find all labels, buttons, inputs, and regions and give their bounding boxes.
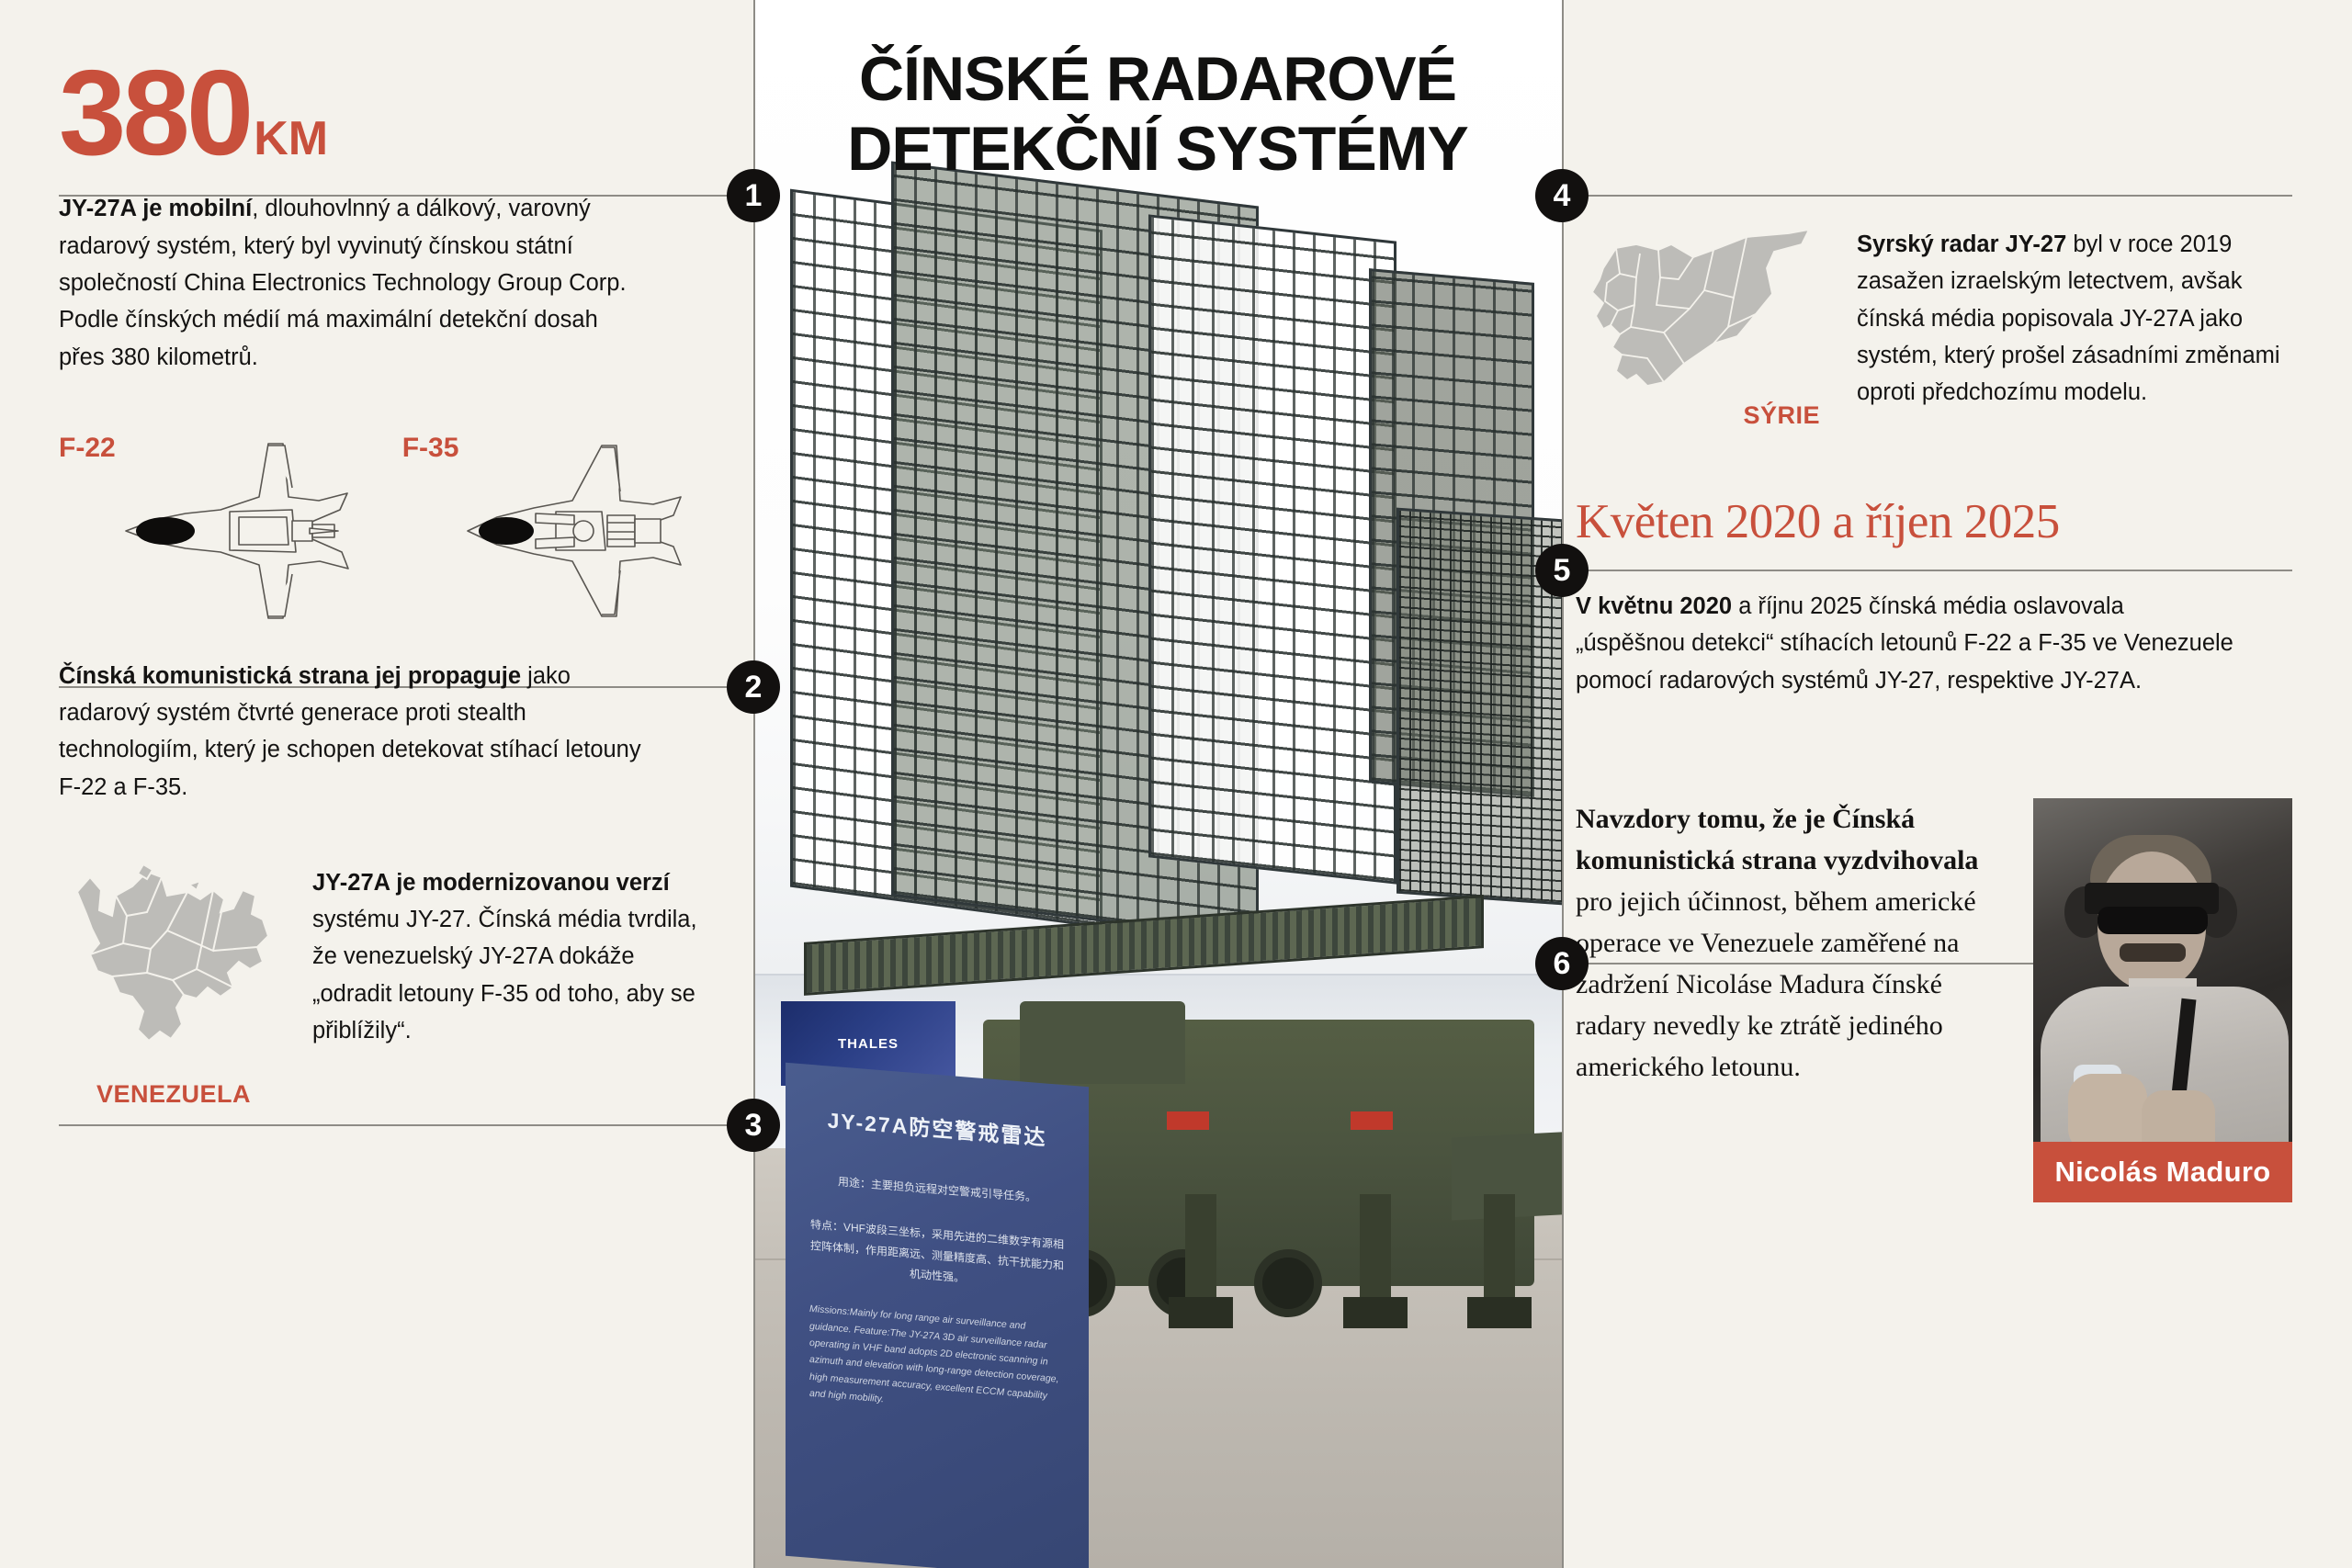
stabilizer-leg — [1185, 1194, 1216, 1304]
block-6-body: pro jejich účinnost, během americké oper… — [1576, 886, 1976, 1082]
block-5-paragraph: V květnu 2020 a říjnu 2025 čínská média … — [1576, 588, 2237, 699]
block-6-paragraph: Navzdory tomu, že je Čínská komunistická… — [1576, 798, 2007, 1088]
placard-chinese-usage: 用途：主要担负远程对空警戒引导任务。 — [809, 1169, 1065, 1211]
block-4: SÝRIE Syrský radar JY-27 byl v roce 2019… — [1576, 226, 2301, 430]
page-title: ČÍNSKÉ RADAROVÉ DETEKČNÍ SYSTÉMY — [790, 44, 1525, 184]
block-3-paragraph: JY-27A je modernizovanou verzí systému J… — [312, 864, 702, 1049]
tail-light — [1167, 1111, 1209, 1130]
stabilizer-leg — [1360, 1194, 1391, 1304]
jet-f35: F-35 — [402, 433, 685, 630]
block-3-lead: JY-27A je modernizovanou verzí — [312, 870, 670, 896]
block-4-paragraph: Syrský radar JY-27 byl v roce 2019 zasaž… — [1857, 226, 2298, 411]
block-3: VENEZUELA JY-27A je modernizovanou verzí… — [59, 859, 702, 1109]
right-column: SÝRIE Syrský radar JY-27 byl v roce 2019… — [1576, 0, 2301, 1202]
syria-map-icon — [1576, 226, 1833, 391]
step-badge-6[interactable]: 6 — [1535, 937, 1589, 990]
fighter-jet-icon — [121, 433, 351, 630]
radar-photo: THALES JY-27A防空警戒雷达 用途：主要担负远程对空警戒引导任务。 特… — [753, 0, 1562, 1568]
block-6-lead: Navzdory tomu, že je Čínská komunistická… — [1576, 804, 1978, 875]
venezuela-map-caption: VENEZUELA — [59, 1080, 288, 1109]
jet-f22: F-22 — [59, 433, 351, 630]
step-badge-2[interactable]: 2 — [727, 660, 780, 714]
stat-value: 380 — [59, 45, 250, 180]
fighter-jet-icon — [464, 433, 684, 630]
block-4-row: SÝRIE Syrský radar JY-27 byl v roce 2019… — [1576, 226, 2301, 430]
block-2-paragraph: Čínská komunistická strana jej propaguje… — [59, 658, 665, 806]
block-1: 380KM JY-27A je mobilní, dlouhovlnný a d… — [59, 55, 702, 376]
block-4-lead: Syrský radar JY-27 — [1857, 231, 2066, 257]
fighter-jet-row: F-22 — [59, 433, 702, 630]
truck-wheel — [1254, 1249, 1322, 1317]
title-line-2: DETEKČNÍ SYSTÉMY — [790, 114, 1525, 184]
step-badge-1[interactable]: 1 — [727, 169, 780, 222]
jet-f22-label: F-22 — [59, 433, 116, 464]
right-spine-line — [1562, 0, 1564, 1568]
block-5: Květen 2020 a říjen 2025 V květnu 2020 a… — [1576, 494, 2301, 699]
maduro-photo: Nicolás Maduro — [2033, 798, 2292, 1202]
stabilizer-pad — [1467, 1297, 1532, 1328]
placard-title: JY-27A防空警戒雷达 — [809, 1101, 1065, 1153]
radar-array-panel — [1148, 214, 1396, 884]
block-3-row: VENEZUELA JY-27A je modernizovanou verzí… — [59, 859, 702, 1109]
placard-chinese-features: 特点：VHF波段三坐标，采用先进的二维数字有源相控阵体制，作用距离远、测量精度高… — [809, 1214, 1065, 1298]
block-1-lead: JY-27A je mobilní — [59, 196, 252, 221]
radar-info-placard: JY-27A防空警戒雷达 用途：主要担负远程对空警戒引导任务。 特点：VHF波段… — [786, 1063, 1089, 1568]
block-6: Navzdory tomu, že je Čínská komunistická… — [1576, 798, 2301, 1202]
stabilizer-leg — [1484, 1194, 1515, 1304]
block-6-row: Navzdory tomu, že je Čínská komunistická… — [1576, 798, 2301, 1202]
tail-light — [1351, 1111, 1393, 1130]
placard-english-text: Missions:Mainly for long range air surve… — [809, 1301, 1065, 1423]
syria-map-block: SÝRIE — [1576, 226, 1833, 430]
photo-caption: Nicolás Maduro — [2033, 1142, 2292, 1202]
left-spine-line — [753, 0, 755, 1568]
stat-380-km: 380KM — [59, 55, 702, 170]
stabilizer-pad — [1169, 1297, 1233, 1328]
step-badge-5[interactable]: 5 — [1535, 544, 1589, 597]
left-column: 380KM JY-27A je mobilní, dlouhovlnný a d… — [59, 0, 702, 1109]
syria-map-caption: SÝRIE — [1576, 401, 1833, 430]
block-2-lead: Čínská komunistická strana jej propaguje — [59, 663, 521, 689]
step-badge-4[interactable]: 4 — [1535, 169, 1589, 222]
block-3-body: systému JY-27. Čínská média tvrdila, že … — [312, 907, 697, 1043]
stat-unit: KM — [254, 112, 328, 165]
jet-f35-label: F-35 — [402, 433, 459, 464]
venezuela-map-icon — [59, 859, 288, 1070]
sunglasses-icon — [2098, 907, 2208, 934]
block-1-body: , dlouhovlnný a dálkový, varovný radarov… — [59, 196, 627, 369]
divider-rule-3 — [59, 1124, 753, 1126]
stabilizer-pad — [1343, 1297, 1408, 1328]
block-1-paragraph: JY-27A je mobilní, dlouhovlnný a dálkový… — [59, 190, 647, 375]
moustache — [2120, 943, 2186, 962]
step-badge-3[interactable]: 3 — [727, 1099, 780, 1152]
venezuela-map-block: VENEZUELA — [59, 859, 288, 1109]
title-line-1: ČÍNSKÉ RADAROVÉ — [859, 44, 1456, 114]
radar-truck-cab — [1020, 1001, 1185, 1084]
block-2: F-22 — [59, 433, 702, 806]
infographic-root: THALES JY-27A防空警戒雷达 用途：主要担负远程对空警戒引导任务。 特… — [0, 0, 2352, 1568]
block-4-body: byl v roce 2019 zasažen izraelským letec… — [1857, 231, 2280, 405]
block-5-lead: V květnu 2020 — [1576, 593, 1732, 619]
block-5-heading: Květen 2020 a říjen 2025 — [1576, 494, 2301, 549]
